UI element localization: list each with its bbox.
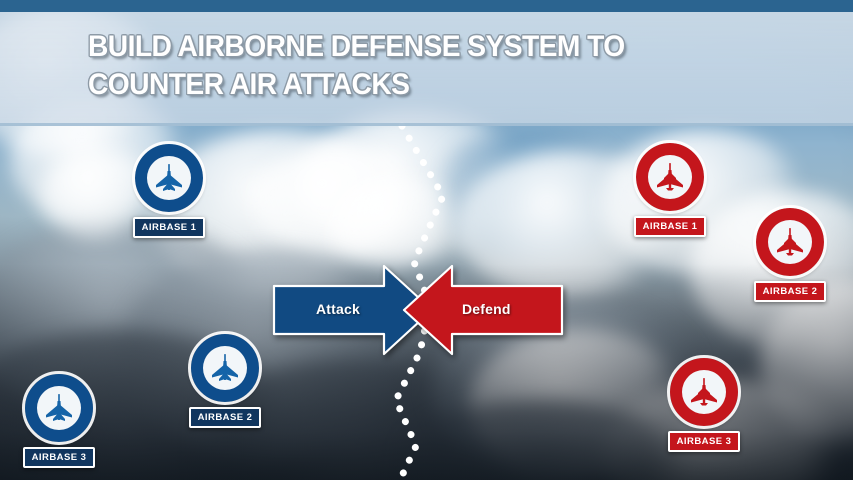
marker-ring-red xyxy=(670,358,738,426)
marker-ring-blue xyxy=(135,144,203,212)
marker-disc xyxy=(768,220,812,264)
arrow-pair: Attack Defend xyxy=(272,264,564,356)
marker-red-airbase-1[interactable]: AIRBASE 1 xyxy=(633,143,707,237)
fighter-jet-inverted-icon xyxy=(688,376,720,408)
marker-disc xyxy=(682,370,726,414)
marker-label: AIRBASE 1 xyxy=(133,217,206,238)
marker-blue-airbase-3[interactable]: AIRBASE 3 xyxy=(22,374,96,468)
marker-disc xyxy=(203,346,247,390)
top-accent-rule xyxy=(0,0,853,12)
marker-disc xyxy=(648,155,692,199)
fighter-jet-icon xyxy=(153,162,185,194)
slide-canvas: AIRBASE 1 AIRBASE 2 xyxy=(0,0,853,480)
marker-red-airbase-2[interactable]: AIRBASE 2 xyxy=(753,208,827,302)
marker-disc xyxy=(147,156,191,200)
marker-ring-red xyxy=(756,208,824,276)
marker-label: AIRBASE 2 xyxy=(754,281,827,302)
marker-blue-airbase-2[interactable]: AIRBASE 2 xyxy=(188,334,262,428)
marker-label: AIRBASE 1 xyxy=(634,216,707,237)
marker-red-airbase-3[interactable]: AIRBASE 3 xyxy=(667,358,741,452)
marker-blue-airbase-1[interactable]: AIRBASE 1 xyxy=(132,144,206,238)
marker-label: AIRBASE 3 xyxy=(23,447,96,468)
fighter-jet-inverted-icon xyxy=(774,226,806,258)
fighter-jet-inverted-icon xyxy=(654,161,686,193)
attack-arrow-label: Attack xyxy=(316,301,360,317)
fighter-jet-icon xyxy=(209,352,241,384)
marker-label: AIRBASE 3 xyxy=(668,431,741,452)
marker-label: AIRBASE 2 xyxy=(189,407,262,428)
marker-ring-blue xyxy=(191,334,259,402)
defend-arrow-label: Defend xyxy=(462,301,511,317)
marker-ring-red xyxy=(636,143,704,211)
page-title: BUILD AIRBORNE DEFENSE SYSTEM TO COUNTER… xyxy=(88,28,746,104)
marker-disc xyxy=(37,386,81,430)
fighter-jet-icon xyxy=(43,392,75,424)
marker-ring-blue xyxy=(25,374,93,442)
